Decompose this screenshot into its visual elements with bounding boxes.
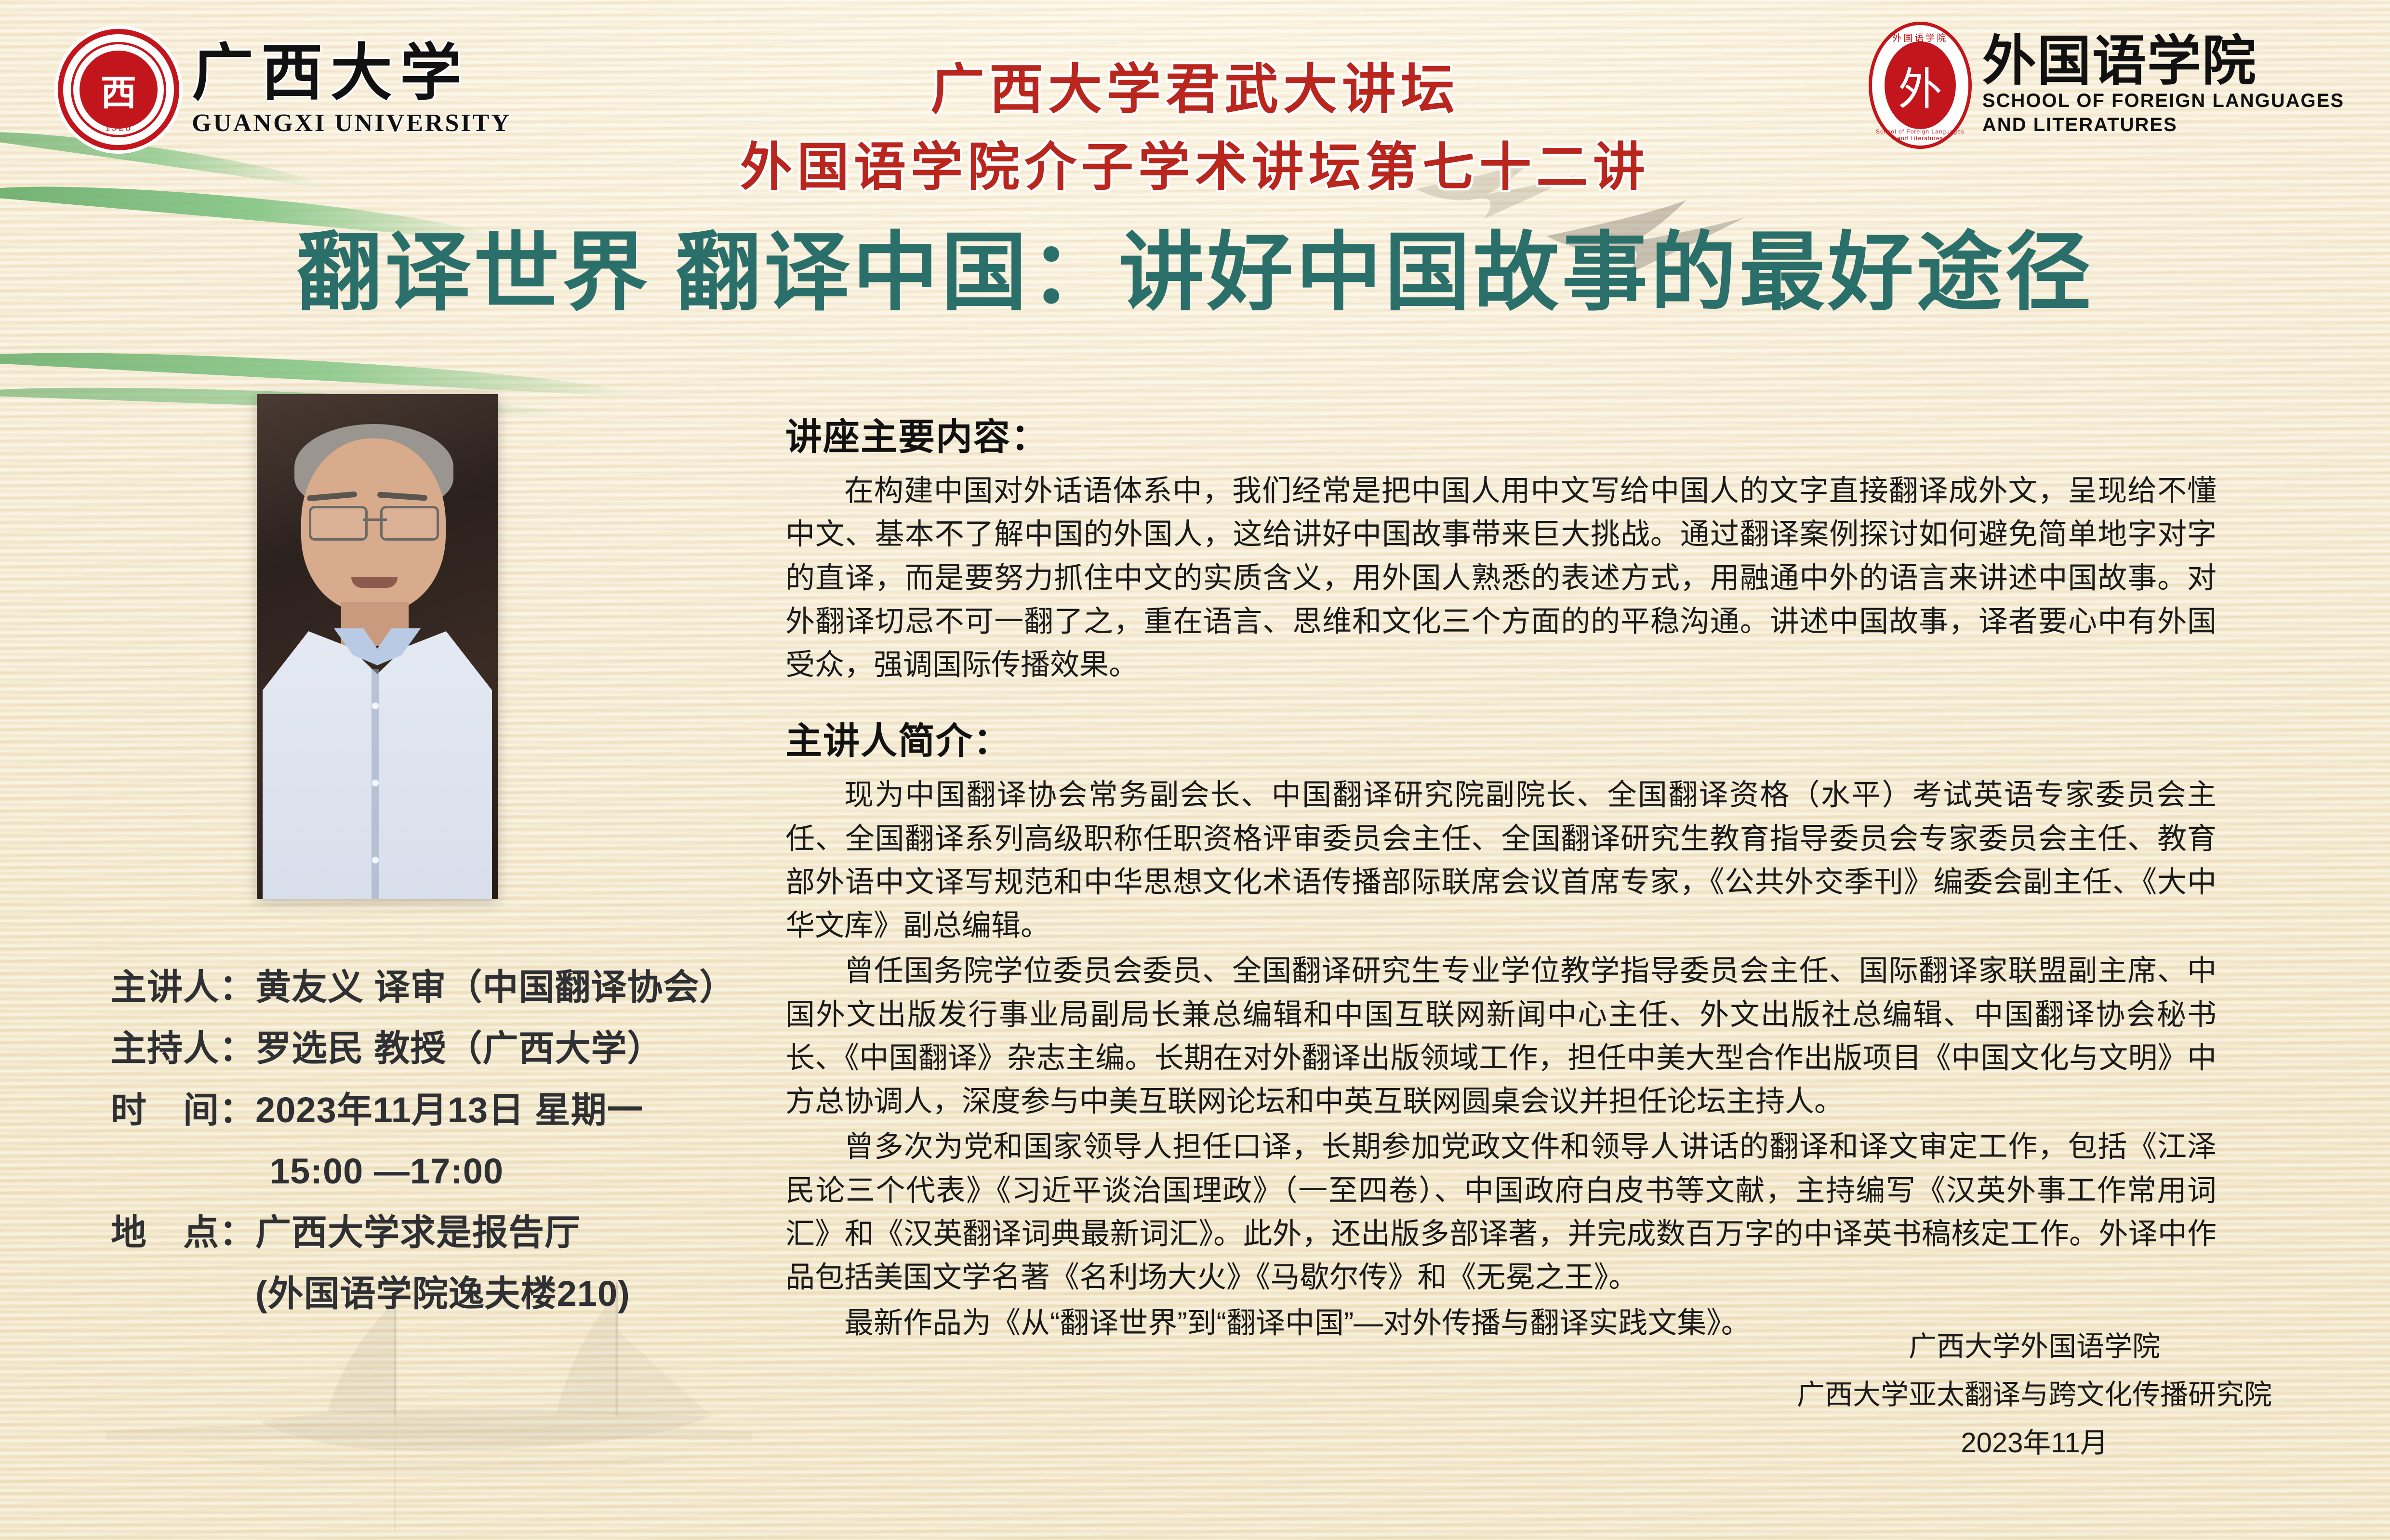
speaker-bio-heading: 主讲人简介： <box>785 711 2217 764</box>
lecture-content-paragraph: 在构建中国对外话语体系中，我们经常是把中国人用中文写给中国人的文字直接翻译成外文… <box>785 469 2217 686</box>
speaker-row: 主讲人：黄友义 译审（中国翻译协会） <box>111 956 795 1018</box>
speaker-portrait <box>257 394 498 899</box>
speaker-bio-paragraph: 曾多次为党和国家领导人担任口译，长期参加党政文件和领导人讲话的翻译和译文审定工作… <box>785 1125 2217 1299</box>
organizer-line-1: 广西大学外国语学院 <box>1797 1323 2272 1371</box>
forum-series-title: 广西大学君武大讲坛 <box>0 46 2390 124</box>
speaker-bio-paragraph: 曾任国务院学位委员会委员、全国翻译研究生专业学位教学指导委员会主任、国际翻译家联… <box>785 949 2217 1123</box>
organizer-date: 2023年11月 <box>1797 1419 2272 1467</box>
portrait-mouth <box>351 577 398 588</box>
lecture-content: 讲座主要内容： 在构建中国对外话语体系中，我们经常是把中国人用中文写给中国人的文… <box>785 407 2217 1346</box>
organizer-line-2: 广西大学亚太翻译与跨文化传播研究院 <box>1797 1371 2272 1419</box>
page-title: 翻译世界 翻译中国：讲好中国故事的最好途径 <box>0 226 2390 321</box>
portrait-glasses <box>309 506 439 536</box>
time-row: 时 间：2023年11月13日 星期一 <box>111 1079 795 1141</box>
speaker-bio-paragraph: 现为中国翻译协会常务副会长、中国翻译研究院副院长、全国翻译资格（水平）考试英语专… <box>785 773 2217 947</box>
event-details: 主讲人：黄友义 译审（中国翻译协会） 主持人：罗选民 教授（广西大学） 时 间：… <box>111 956 795 1325</box>
venue-row: 地 点：广西大学求是报告厅 <box>111 1202 795 1263</box>
poster-root: 西 1928 广西大学 GUANGXI UNIVERSITY 外国语学院 外 S… <box>0 0 2390 1540</box>
portrait-button <box>372 703 379 709</box>
portrait-button <box>372 780 379 786</box>
organizer-signature: 广西大学外国语学院 广西大学亚太翻译与跨文化传播研究院 2023年11月 <box>1797 1323 2272 1467</box>
venue-row-second: (外国语学院逸夫楼210) <box>111 1263 795 1324</box>
host-row: 主持人：罗选民 教授（广西大学） <box>111 1018 795 1079</box>
lecture-number-title: 外国语学院介子学术讲坛第七十二讲 <box>0 125 2390 200</box>
portrait-button <box>372 857 379 863</box>
lecture-content-heading: 讲座主要内容： <box>785 407 2217 460</box>
time-row-second: 15:00 —17:00 <box>111 1141 795 1202</box>
